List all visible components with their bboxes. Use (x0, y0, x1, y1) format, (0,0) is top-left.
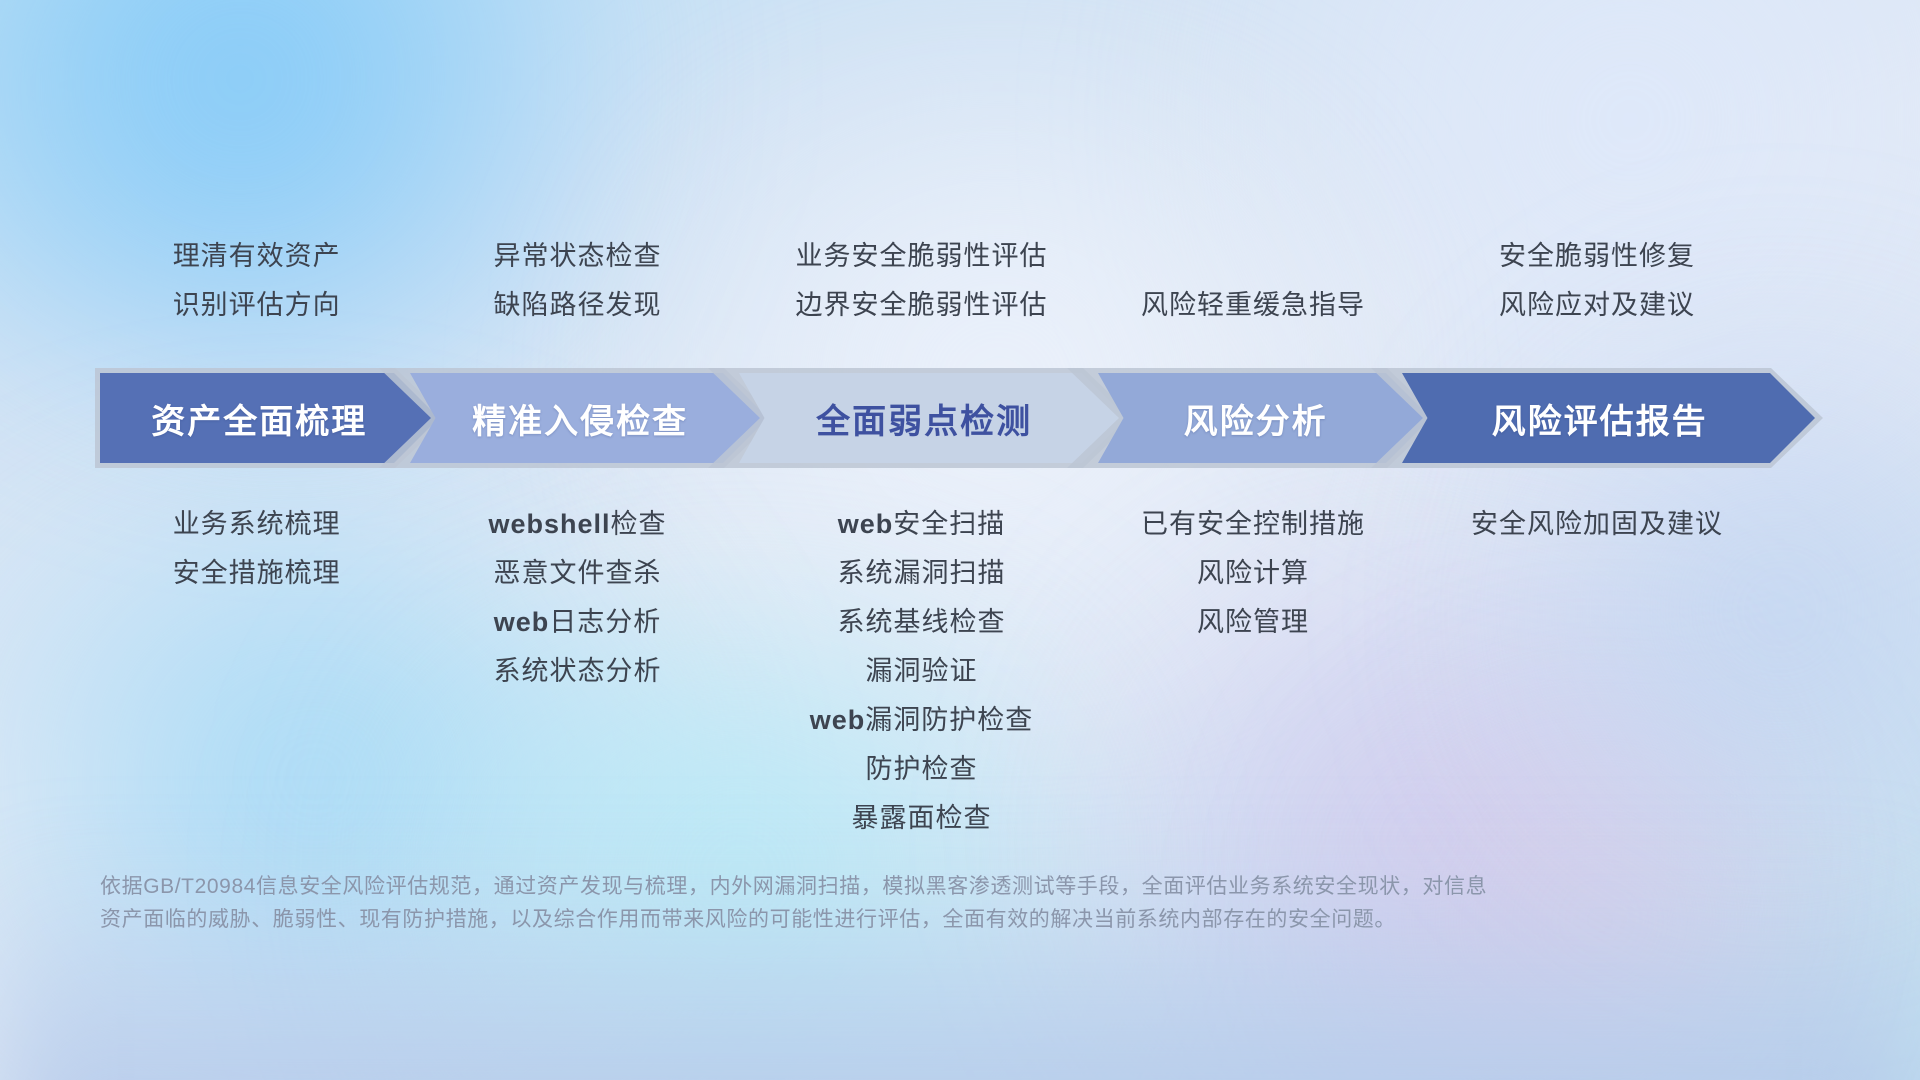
item-latin-part: web (838, 509, 894, 539)
top-caption-line: 边界安全脆弱性评估 (734, 281, 1109, 330)
bottom-caption-item: 系统状态分析 (405, 647, 750, 696)
bottom-caption-assessment-report: 安全风险加固及建议 (1397, 500, 1797, 549)
bottom-caption-item: 暴露面检查 (734, 794, 1109, 843)
top-caption-line: 理清有效资产 (84, 232, 429, 281)
top-caption-line: 安全脆弱性修复 (1397, 232, 1797, 281)
top-caption-line: 识别评估方向 (84, 281, 429, 330)
process-chevron-band: 资产全面梳理精准入侵检查全面弱点检测风险分析风险评估报告 (95, 368, 1835, 468)
bottom-caption-item: 风险计算 (1093, 549, 1413, 598)
bottom-caption-item: web日志分析 (405, 598, 750, 647)
top-caption-asset-inventory: 理清有效资产识别评估方向 (84, 232, 429, 330)
item-latin-part: webshell (488, 509, 610, 539)
item-latin-part: web (494, 607, 550, 637)
bottom-caption-weakness-detection: web安全扫描系统漏洞扫描系统基线检查漏洞验证web漏洞防护检查防护检查暴露面检… (734, 500, 1109, 843)
bottom-caption-item: webshell检查 (405, 500, 750, 549)
item-cjk-part: 风险计算 (1197, 558, 1309, 588)
item-cjk-part: 业务系统梳理 (173, 509, 341, 539)
top-caption-assessment-report: 安全脆弱性修复风险应对及建议 (1397, 232, 1797, 330)
bottom-caption-item: 漏洞验证 (734, 647, 1109, 696)
bottom-caption-item: 防护检查 (734, 745, 1109, 794)
item-cjk-part: 已有安全控制措施 (1141, 509, 1365, 539)
item-cjk-part: 漏洞验证 (866, 656, 978, 686)
item-cjk-part: 安全措施梳理 (173, 558, 341, 588)
top-caption-line: 缺陷路径发现 (405, 281, 750, 330)
item-cjk-part: 日志分析 (549, 607, 661, 637)
item-cjk-part: 安全扫描 (893, 509, 1005, 539)
item-cjk-part: 系统状态分析 (494, 656, 662, 686)
bottom-caption-item: 系统漏洞扫描 (734, 549, 1109, 598)
top-caption-line: 异常状态检查 (405, 232, 750, 281)
item-cjk-part: 系统漏洞扫描 (838, 558, 1006, 588)
bottom-caption-intrusion-check: webshell检查恶意文件查杀web日志分析系统状态分析 (405, 500, 750, 696)
bottom-caption-item: 安全风险加固及建议 (1397, 500, 1797, 549)
bottom-caption-item: 已有安全控制措施 (1093, 500, 1413, 549)
bottom-caption-risk-analysis: 已有安全控制措施风险计算风险管理 (1093, 500, 1413, 647)
bottom-caption-item: web安全扫描 (734, 500, 1109, 549)
item-latin-part: web (810, 705, 866, 735)
item-cjk-part: 安全风险加固及建议 (1471, 509, 1723, 539)
bottom-caption-item: 恶意文件查杀 (405, 549, 750, 598)
item-cjk-part: 漏洞防护检查 (865, 705, 1033, 735)
item-cjk-part: 风险管理 (1197, 607, 1309, 637)
top-caption-line: 风险轻重缓急指导 (1093, 281, 1413, 330)
bottom-caption-item: web漏洞防护检查 (734, 696, 1109, 745)
bottom-caption-item: 业务系统梳理 (84, 500, 429, 549)
item-cjk-part: 系统基线检查 (838, 607, 1006, 637)
bottom-caption-item: 风险管理 (1093, 598, 1413, 647)
bottom-caption-item: 安全措施梳理 (84, 549, 429, 598)
process-stage-assessment-report[interactable]: 风险评估报告 (1371, 368, 1823, 468)
item-cjk-part: 恶意文件查杀 (494, 558, 662, 588)
item-cjk-part: 防护检查 (866, 754, 978, 784)
footer-line-2: 资产面临的威胁、脆弱性、现有防护措施，以及综合作用而带来风险的可能性进行评估，全… (100, 903, 1660, 936)
top-caption-weakness-detection: 业务安全脆弱性评估边界安全脆弱性评估 (734, 232, 1109, 330)
top-caption-line: 风险应对及建议 (1397, 281, 1797, 330)
top-caption-intrusion-check: 异常状态检查缺陷路径发现 (405, 232, 750, 330)
process-stage-label: 风险评估报告 (1371, 394, 1823, 443)
top-caption-risk-analysis: 风险轻重缓急指导 (1093, 281, 1413, 330)
bottom-caption-item: 系统基线检查 (734, 598, 1109, 647)
diagram-content: 理清有效资产识别评估方向异常状态检查缺陷路径发现业务安全脆弱性评估边界安全脆弱性… (0, 0, 1920, 1080)
footer-line-1: 依据GB/T20984信息安全风险评估规范，通过资产发现与梳理，内外网漏洞扫描，… (100, 870, 1660, 903)
footer-description: 依据GB/T20984信息安全风险评估规范，通过资产发现与梳理，内外网漏洞扫描，… (100, 870, 1660, 936)
item-cjk-part: 暴露面检查 (852, 803, 992, 833)
bottom-caption-asset-inventory: 业务系统梳理安全措施梳理 (84, 500, 429, 598)
item-cjk-part: 检查 (611, 509, 667, 539)
top-caption-line: 业务安全脆弱性评估 (734, 232, 1109, 281)
